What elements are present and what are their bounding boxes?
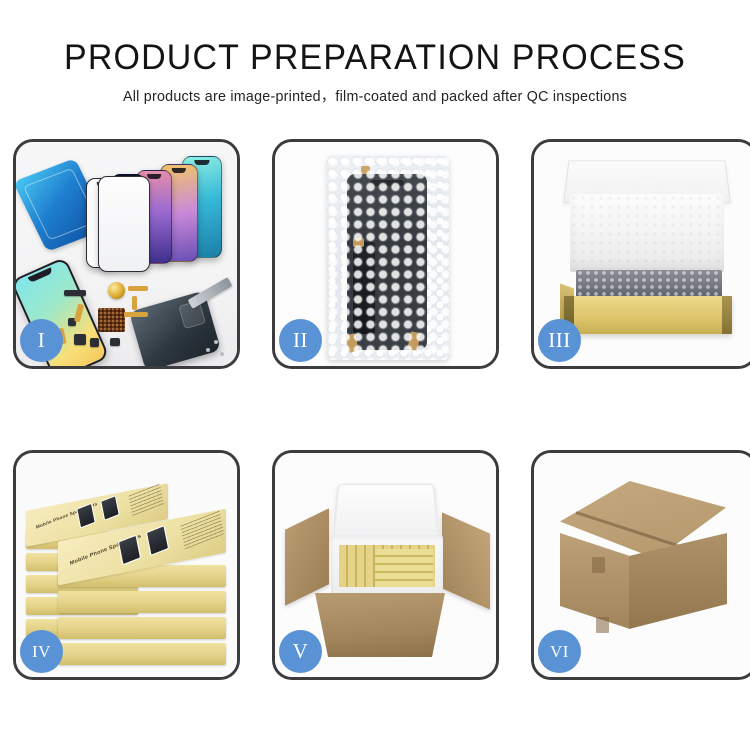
stacked-box-item xyxy=(58,643,226,665)
phone-lineup-group xyxy=(78,156,228,276)
carton-left-face-icon xyxy=(560,533,630,629)
carton-front-icon xyxy=(315,593,445,657)
component-chip-icon xyxy=(90,338,99,347)
page-title: PRODUCT PREPARATION PROCESS xyxy=(11,38,739,77)
screw-icon xyxy=(214,340,218,344)
copper-mesh-icon xyxy=(98,308,125,332)
foam-texture-overlay xyxy=(570,194,724,272)
box-spec-lines xyxy=(128,483,164,516)
step-panel-4: Mobile Phone Spare Parts Mobile Phone Sp… xyxy=(13,450,240,680)
white-foam-sheet-icon xyxy=(570,194,724,272)
step-badge-5: V xyxy=(279,630,322,673)
step-badge-1: I xyxy=(20,319,63,362)
box-artwork-phone-icon xyxy=(100,495,120,521)
screw-icon xyxy=(206,348,210,352)
stacked-box-item xyxy=(58,591,226,613)
step-badge-2: II xyxy=(279,319,322,362)
stacked-box-item xyxy=(58,617,226,639)
step-badge-3: III xyxy=(538,319,581,362)
carton-tape-patch-icon xyxy=(592,557,605,573)
screw-icon xyxy=(220,352,224,356)
component-chip-icon xyxy=(64,290,86,296)
bubble-texture-overlay xyxy=(327,156,449,360)
phone-notch-icon xyxy=(147,174,161,179)
box-artwork-phone-icon xyxy=(146,525,169,556)
phone-notch-icon xyxy=(194,160,209,165)
flex-cable-icon xyxy=(132,296,137,310)
yellow-boxes-row-icon xyxy=(375,549,433,587)
step-panel-3: III xyxy=(531,139,750,369)
carton-flap-left-icon xyxy=(285,508,329,605)
bubble-wrap-bag-icon xyxy=(327,156,449,360)
flex-cable-icon xyxy=(128,286,148,291)
phone-backplate-icon xyxy=(129,290,221,366)
step-panel-1: I xyxy=(13,139,240,369)
step-panel-2: II xyxy=(272,139,499,369)
page-subtitle: All products are image-printed，film-coat… xyxy=(6,85,745,106)
step-badge-6: VI xyxy=(538,630,581,673)
flex-cable-icon xyxy=(124,312,148,317)
screen-protector-icon xyxy=(98,176,150,272)
page-header: PRODUCT PREPARATION PROCESS All products… xyxy=(0,38,750,106)
grey-foam-pad-icon xyxy=(576,270,722,298)
speaker-module-icon xyxy=(108,282,125,299)
yellow-box-front-icon xyxy=(564,296,732,334)
process-step-grid: I II xyxy=(13,139,741,679)
carton-flap-right-icon xyxy=(442,512,490,609)
phone-notch-icon xyxy=(172,168,186,173)
component-chip-icon xyxy=(74,334,86,345)
step-badge-4: IV xyxy=(20,630,63,673)
foam-cooler-lid-icon xyxy=(332,484,440,540)
box-spec-lines xyxy=(180,509,224,549)
product-preparation-page: PRODUCT PREPARATION PROCESS All products… xyxy=(0,0,750,750)
component-chip-icon xyxy=(110,338,120,346)
carton-tape-patch-icon xyxy=(596,617,609,633)
step-panel-5: V xyxy=(272,450,499,680)
step-panel-6: VI xyxy=(531,450,750,680)
